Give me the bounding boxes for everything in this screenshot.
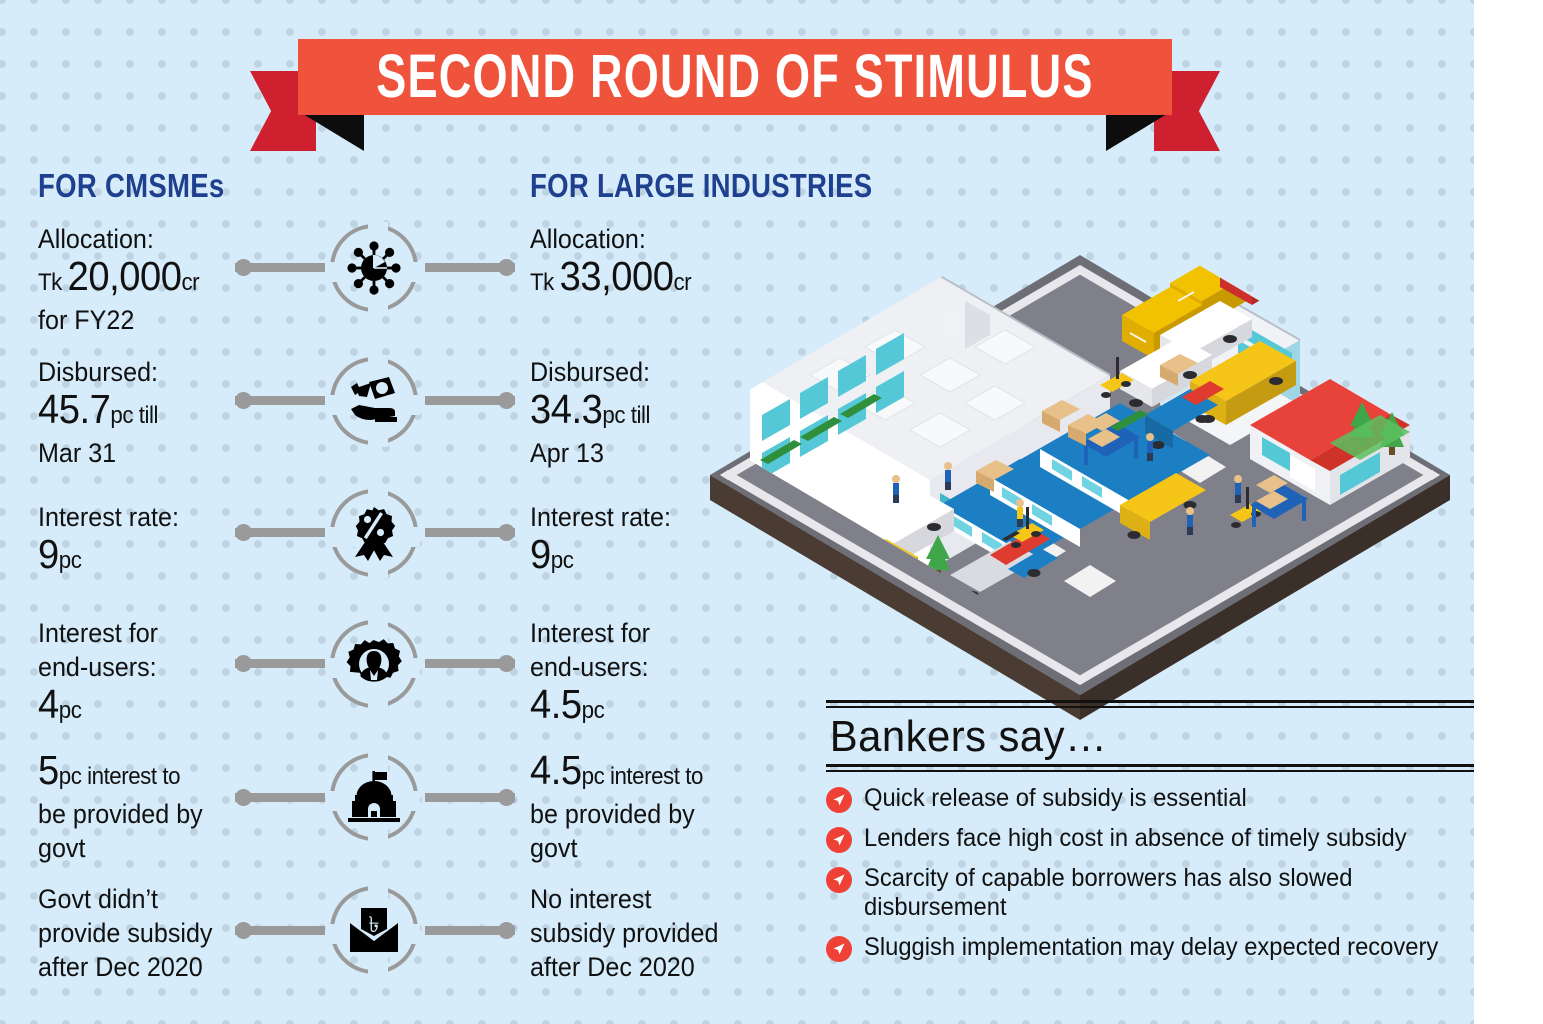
divider-bottom: [826, 764, 1474, 767]
list-item-label: Scarcity of capable borrowers has also s…: [864, 864, 1368, 922]
row-0-connector-right: [425, 263, 515, 272]
row-1-left-note: Mar 31: [38, 436, 271, 470]
row-4-left-note2: govt: [38, 831, 271, 865]
row-5-connector-right: [425, 926, 515, 935]
row-3-connector-left: [235, 659, 325, 668]
row-0-left-note: for FY22: [38, 303, 271, 337]
row-4-left-value: 5pc interest to: [38, 750, 271, 797]
list-item: Sluggish implementation may delay expect…: [826, 933, 1474, 962]
list-item: Scarcity of capable borrowers has also s…: [826, 864, 1474, 922]
row-3-left-text: Interest for end-users: 4pc: [38, 616, 271, 731]
infographic-root: SECOND ROUND OF STIMULUS FOR CMSMEs FOR …: [0, 0, 1543, 1024]
arrow-bullet-icon: [826, 936, 852, 962]
row-3-left-label: Interest for: [38, 616, 271, 650]
row-4-left-text: 5pc interest to be provided by govt: [38, 750, 271, 865]
arrow-bullet-icon: [826, 787, 852, 813]
row-4-connector-left: [235, 793, 325, 802]
row-0-left-label: Allocation:: [38, 222, 271, 256]
row-4-right-value: 4.5pc interest to: [530, 750, 772, 797]
row-1-connector-left: [235, 396, 325, 405]
row-0-left-text: Allocation: Tk 20,000cr for FY22: [38, 222, 271, 337]
divider-bottom-thin: [826, 770, 1474, 772]
pie-network-icon: [330, 224, 418, 312]
row-2-left-text: Interest rate: 9pc: [38, 500, 271, 581]
list-item: Lenders face high cost in absence of tim…: [826, 824, 1474, 853]
row-4-right-note2: govt: [530, 831, 772, 865]
row-4-right-text: 4.5pc interest to be provided by govt: [530, 750, 772, 865]
row-0-connector-left: [235, 263, 325, 272]
envelope-taka-icon: ৳: [330, 886, 418, 974]
government-building-icon: [330, 753, 418, 841]
row-2-connector-right: [425, 528, 515, 537]
gear-user-icon: [330, 620, 418, 708]
bankers-bullet-list: Quick release of subsidy is essential Le…: [826, 784, 1474, 962]
row-4-connector-right: [425, 793, 515, 802]
row-3-left-value: 4pc: [38, 684, 271, 731]
industrial-complex-illustration: [690, 175, 1470, 735]
bankers-say-section: Bankers say… Quick release of subsidy is…: [826, 700, 1474, 973]
list-item-label: Sluggish implementation may delay expect…: [864, 933, 1438, 962]
row-1-connector-right: [425, 396, 515, 405]
row-2-connector-left: [235, 528, 325, 537]
row-1-left-text: Disbursed: 45.7pc till Mar 31: [38, 355, 271, 470]
bankers-say-heading: Bankers say…: [826, 708, 1442, 764]
arrow-bullet-icon: [826, 827, 852, 853]
svg-text:৳: ৳: [369, 913, 380, 938]
row-4-right-note: be provided by: [530, 797, 772, 831]
percent-badge-icon: [330, 489, 418, 577]
row-1-left-label: Disbursed:: [38, 355, 271, 389]
arrow-bullet-icon: [826, 867, 852, 893]
list-item: Quick release of subsidy is essential: [826, 784, 1474, 813]
list-item-label: Lenders face high cost in absence of tim…: [864, 824, 1407, 853]
divider-top: [826, 700, 1474, 703]
list-item-label: Quick release of subsidy is essential: [864, 784, 1247, 813]
row-5-connector-left: [235, 926, 325, 935]
hand-money-icon: [330, 357, 418, 445]
row-2-left-value: 9pc: [38, 534, 271, 581]
row-5-right-text: No interest subsidy provided after Dec 2…: [530, 882, 772, 984]
row-3-connector-right: [425, 659, 515, 668]
